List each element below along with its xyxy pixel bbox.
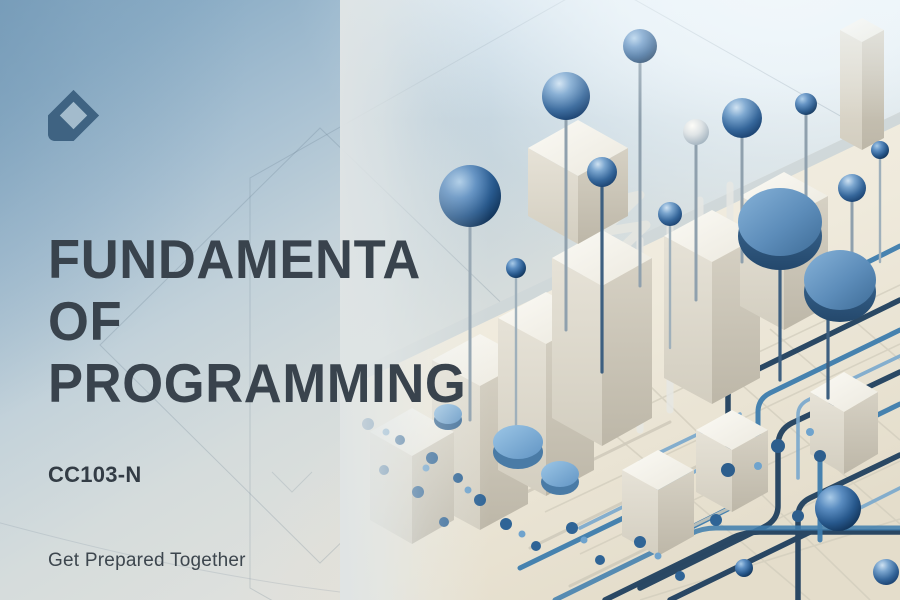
tagline: Get Prepared Together bbox=[48, 550, 518, 572]
course-title-line-1: FUNDAMENTA OF bbox=[48, 228, 497, 352]
banner-copy: FUNDAMENTA OF PROGRAMMING CC103-N Get Pr… bbox=[48, 228, 518, 572]
course-title-line-2: PROGRAMMING bbox=[48, 352, 497, 414]
disc bbox=[738, 188, 822, 270]
disc bbox=[541, 461, 579, 495]
cuboid-bar bbox=[696, 410, 768, 512]
cuboid-bar bbox=[622, 450, 694, 556]
diamond-mark-logo-top[interactable] bbox=[46, 88, 102, 146]
course-banner: FUNDAMENTA OF PROGRAMMING CC103-N Get Pr… bbox=[0, 0, 900, 600]
course-title: FUNDAMENTA OF PROGRAMMING bbox=[48, 228, 497, 414]
course-code: CC103-N bbox=[48, 462, 518, 488]
disc bbox=[804, 250, 876, 322]
cuboid-bar bbox=[840, 18, 884, 150]
